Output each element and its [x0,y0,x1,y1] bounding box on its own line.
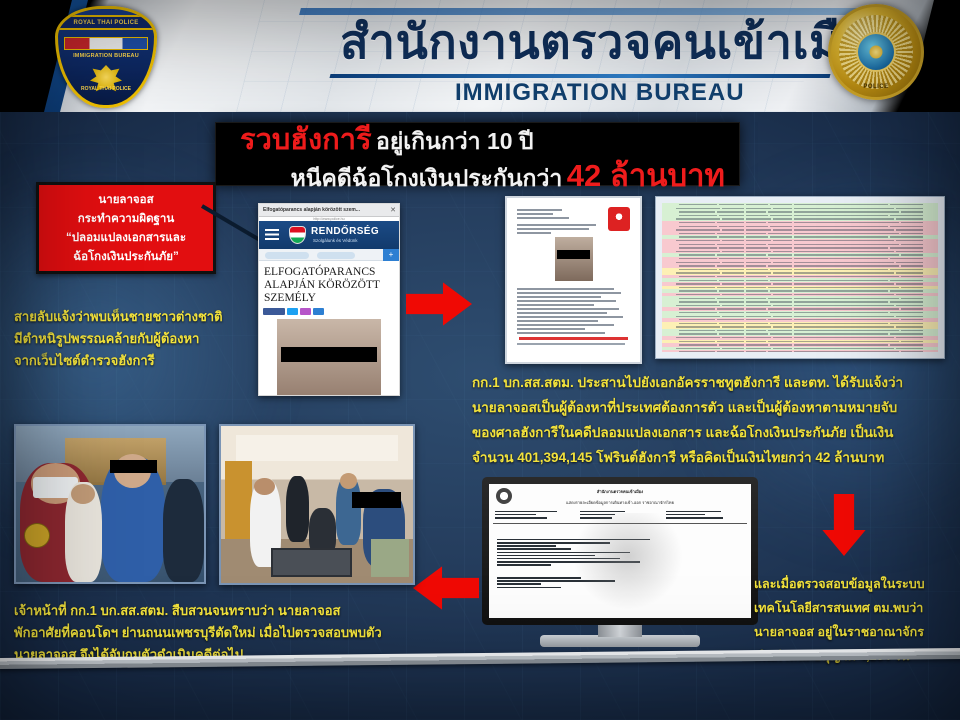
table-cell [896,208,924,209]
table-cell [770,344,792,345]
table-cell [794,287,899,288]
table-cell [679,276,715,277]
headline-line2-white: หนีคดีฉ้อโกงเงินประกันกว่า [291,165,563,191]
table-cell [768,254,793,255]
table-cell [746,208,771,209]
charge-box-line3: “ปลอมแปลงเอกสารและ [43,229,209,248]
table-cell [746,348,771,349]
table-cell [663,233,677,234]
table-cell [746,305,771,306]
table-cell [770,301,792,302]
table-cell [794,301,888,302]
table-cell [679,298,715,299]
table-cell [679,254,715,255]
table-cell [719,333,744,334]
seal-inner-disc [856,32,896,72]
subnav-expand-button[interactable]: + [383,249,399,261]
wanted-persons-table-screenshot[interactable] [655,196,945,359]
table-cell [746,344,768,345]
shield-bottom-text: ROYAL THAI POLICE [58,86,154,96]
table-cell [717,308,745,309]
table-cell [663,204,677,205]
table-cell [794,294,893,295]
table-cell [663,341,677,342]
table-cell [717,351,745,352]
table-cell [773,272,792,273]
table-cell [746,204,768,205]
table-cell [794,276,899,277]
table-cell [722,272,744,273]
table-cell [901,308,923,309]
table-cell [794,290,888,291]
table-cell [773,305,792,306]
table-cell [663,276,677,277]
table-cell [794,229,893,230]
table-cell [722,305,744,306]
table-cell [768,211,793,212]
police-crest-icon [608,207,630,231]
table-cell [773,229,792,230]
browser-tab-title[interactable]: Elfogatóparancs alapján körözött szem...… [259,204,399,217]
table-cell [794,204,888,205]
table-cell [717,244,745,245]
screen-reflection [573,513,683,609]
table-cell [676,218,720,219]
table-cell [770,280,792,281]
table-cell [679,308,715,309]
table-cell [770,236,792,237]
table-cell [768,233,793,234]
monitor-bezel: สำนักงานตรวจคนเข้าเมือง แสดงรายละเอียดข้… [482,477,758,625]
table-cell [663,208,674,209]
table-cell [794,233,899,234]
arrow-right-icon [406,281,472,327]
table-cell [890,226,923,227]
table-cell [676,251,720,252]
table-cell [719,226,744,227]
royal-thai-police-shield-icon: ROYAL THAI POLICE IMMIGRATION BUREAU ROY… [55,6,157,108]
table-cell [719,236,744,237]
table-cell [722,326,744,327]
table-cell [746,290,768,291]
table-cell [746,251,771,252]
table-cell [794,269,888,270]
table-cell [768,319,793,320]
table-cell [773,326,792,327]
table-cell [746,247,768,248]
table-cell [794,211,899,212]
table-cell [773,283,792,284]
arrow-down-icon [821,494,867,556]
table-cell [676,208,720,209]
table-cell [719,344,744,345]
table-cell [746,272,771,273]
table-cell [717,222,745,223]
censor-bar [557,250,590,259]
table-cell [746,287,765,288]
table-cell [746,341,765,342]
table-cell [717,211,745,212]
table-cell [663,337,674,338]
table-cell [890,236,923,237]
table-cell [663,290,677,291]
table-cell [773,208,792,209]
table-cell [746,215,768,216]
thai-immigration-seal-icon [496,488,512,504]
table-cell [663,244,677,245]
table-cell [663,330,677,331]
table-cell [746,244,765,245]
table-cell [901,211,923,212]
charge-box-line1: นายลาจอส [43,191,209,210]
table-cell [746,218,771,219]
table-cell [770,333,792,334]
subnav-item-2[interactable] [317,252,355,259]
table-cell [663,351,677,352]
table-cell [679,211,715,212]
table-cell [663,265,677,266]
table-cell [794,316,893,317]
table-cell [719,269,744,270]
headline-line1-red: รวบฮังการี [240,124,372,156]
table-cell [717,276,745,277]
table-cell [717,319,745,320]
table-cell [773,316,792,317]
table-cell [746,233,765,234]
table-cell [890,280,923,281]
shield-top-text: ROYAL THAI POLICE [58,15,154,30]
table-cell [722,251,744,252]
table-cell [663,312,677,313]
table-cell [794,240,893,241]
table-cell [746,330,765,331]
table-cell [768,287,793,288]
table-cell [663,280,677,281]
table-cell [679,247,718,248]
table-cell [794,312,888,313]
table-cell [717,265,745,266]
site-navbar: RENDŐRSÉG Szolgálunk és Védünk [259,221,399,249]
notice-page [511,202,636,358]
table-cell [679,330,715,331]
table-cell [770,204,792,205]
table-cell [890,204,923,205]
site-subnav: + [259,249,399,261]
wanted-page-heading: ELFOGATÓPARANCS ALAPJÁN KÖRÖZÖTT SZEMÉLY [259,261,399,307]
table-cell [663,298,677,299]
table-cell [717,233,745,234]
table-cell [794,222,899,223]
table-cell [663,333,677,334]
monitor-screen[interactable]: สำนักงานตรวจคนเข้าเมือง แสดงรายละเอียดข้… [489,484,751,618]
gold-police-seal-icon: POLICE [828,4,924,108]
table-cell [794,258,888,259]
table-cell [794,247,888,248]
table-cell [676,272,720,273]
table-cell [896,326,924,327]
table-cell [746,326,771,327]
table-cell [773,262,792,263]
table-cell [719,247,744,248]
table-cell [663,262,674,263]
table-cell [896,305,924,306]
table-cell [717,330,745,331]
table-cell [663,283,674,284]
table-cell [746,211,765,212]
table-cell [746,222,765,223]
shield-tricolor-band [64,37,148,50]
table-cell [794,348,893,349]
table-cell [794,208,893,209]
table-cell [663,326,674,327]
table-cell [770,226,792,227]
table-cell [663,308,677,309]
table-cell [794,262,893,263]
table-cell [890,333,923,334]
table-cell [719,258,744,259]
table-cell [663,240,674,241]
table-cell [896,262,924,263]
table-cell [746,283,771,284]
site-brand-subtitle: Szolgálunk és Védünk [313,238,358,243]
table-cell [676,305,720,306]
table-cell [773,348,792,349]
table-cell [890,344,923,345]
subnav-item-1[interactable] [265,252,309,259]
table-cell [794,351,899,352]
table-cell [663,301,677,302]
table-cell [901,319,923,320]
table-cell [768,308,793,309]
table-cell [896,283,924,284]
table-cell [676,348,720,349]
table-cell [768,341,793,342]
table-cell [773,251,792,252]
table-cell [890,290,923,291]
table-cell [679,323,718,324]
table-cell [901,222,923,223]
table-cell [717,341,745,342]
table-cell [746,280,768,281]
table-cell [896,337,924,338]
table-cell [746,337,771,338]
table-cell [890,258,923,259]
table-cell [770,215,792,216]
suspect-charge-box: นายลาจอส กระทำความผิดฐาน “ปลอมแปลงเอกสาร… [36,182,216,274]
table-cell [794,344,888,345]
close-icon[interactable]: ✕ [390,206,396,214]
table-cell [794,272,893,273]
table-cell [901,298,923,299]
table-cell [746,254,765,255]
table-cell [746,226,768,227]
table-cell [770,290,792,291]
notice-portrait-photo [555,237,593,281]
charge-box-line4: ฉ้อโกงเงินประกันภัย” [43,248,209,267]
system-header-subtitle: แสดงรายละเอียดข้อมูลการเดินทางเข้า-ออก ร… [489,495,751,506]
table-cell [901,287,923,288]
table-cell [722,316,744,317]
table-cell [770,269,792,270]
table-cell [890,312,923,313]
table-cell [719,290,744,291]
table-cell [896,251,924,252]
headline-line1-white: อยู่เกินกว่า 10 ปี [376,128,534,154]
table-cell [794,319,899,320]
table-cell [770,312,792,313]
table-cell [890,323,923,324]
table-cell [722,337,744,338]
table-cell [768,244,793,245]
table-cell [794,218,893,219]
table-cell [770,258,792,259]
table-cell [794,226,888,227]
table-cell [676,262,720,263]
table-cell [896,240,924,241]
seal-label: POLICE [831,84,921,90]
table-cell [901,341,923,342]
table-cell [890,215,923,216]
table-cell [773,337,792,338]
table-cell [746,351,765,352]
wanted-notice-document-screenshot[interactable] [505,196,642,364]
table-cell [663,272,674,273]
table-cell [770,247,792,248]
table-cell [722,283,744,284]
table-cell [794,265,899,266]
table-cell [676,229,720,230]
table-cell [663,348,674,349]
table-cell [676,326,720,327]
table-cell [773,294,792,295]
headline-banner: รวบฮังการี อยู่เกินกว่า 10 ปี หนีคดีฉ้อโ… [215,122,740,186]
table-cell [679,341,715,342]
table-cell [768,351,793,352]
table-cell [717,287,745,288]
table-cell [679,280,718,281]
table-cell [679,269,718,270]
table-cell [663,305,674,306]
table-cell [679,215,718,216]
table-cell [663,294,674,295]
table-cell [746,240,771,241]
table-cell [679,236,718,237]
table-cell [676,337,720,338]
table-cell [746,294,771,295]
browser-tab-label: Elfogatóparancs alapján körözött szem... [263,207,360,213]
table-cell [901,233,923,234]
table-cell [746,333,768,334]
table-cell [794,251,893,252]
table-cell [663,287,677,288]
table-cell [896,272,924,273]
table-cell [676,240,720,241]
table-cell [794,215,888,216]
table-cell [663,269,677,270]
table-cell [719,312,744,313]
table-cell [773,240,792,241]
table-cell [794,323,888,324]
table-cell [773,218,792,219]
table-cell [663,258,677,259]
table-cell [770,323,792,324]
arrest-photo[interactable] [14,424,206,584]
table-cell [794,330,899,331]
table-cell [746,269,768,270]
condo-search-photo[interactable] [219,424,415,585]
table-cell [746,316,771,317]
table-cell [794,236,888,237]
system-header-title: สำนักงานตรวจคนเข้าเมือง [489,484,751,495]
table-cell [679,287,715,288]
caption-middle: กก.1 บก.สส.สตม. ประสานไปยังเอกอัครราชทูต… [472,370,950,470]
table-cell [768,330,793,331]
table-cell [794,305,893,306]
page-header: ROYAL THAI POLICE IMMIGRATION BUREAU ROY… [0,0,960,112]
header-title-underline [330,74,831,78]
page-title-english: IMMIGRATION BUREAU [455,80,855,106]
table-cell [679,351,715,352]
table-cell [663,344,677,345]
table-cell [719,280,744,281]
table-cell [679,226,718,227]
page-title-thai: สำนักงานตรวจคนเข้าเมือง [340,12,860,72]
table-cell [901,276,923,277]
table-cell [717,298,745,299]
table-cell [663,323,677,324]
table-cell [679,344,718,345]
table-cell [679,265,715,266]
censor-bar [281,347,377,363]
table-cell [722,262,744,263]
table-cell [896,294,924,295]
mail-share-icon[interactable] [313,308,324,315]
table-cell [794,333,888,334]
table-cell [719,215,744,216]
table-cell [890,269,923,270]
table-cell [896,348,924,349]
table-cell [794,254,899,255]
table-cell [768,265,793,266]
table-cell [746,258,768,259]
table-cell [768,298,793,299]
table-cell [679,233,715,234]
table-cell [901,265,923,266]
table-cell [896,218,924,219]
table-cell [679,301,718,302]
table-cell [679,312,718,313]
table-cell [722,208,744,209]
table-cell [722,294,744,295]
share-icon[interactable] [300,308,311,315]
table-cell [746,298,765,299]
table-cell [768,222,793,223]
table-cell [679,258,718,259]
table-cell [663,215,677,216]
table-cell [679,333,718,334]
table-cell [722,218,744,219]
table-cell [896,316,924,317]
table-cell [663,254,677,255]
table-cell [746,323,768,324]
table-cell [663,229,674,230]
hungarian-coat-of-arms-icon [289,226,306,244]
table-cell [722,348,744,349]
hamburger-menu-icon[interactable] [265,229,279,240]
table-cell [746,319,765,320]
immigration-system-monitor[interactable]: สำนักงานตรวจคนเข้าเมือง แสดงรายละเอียดข้… [482,477,758,657]
table-cell [676,316,720,317]
